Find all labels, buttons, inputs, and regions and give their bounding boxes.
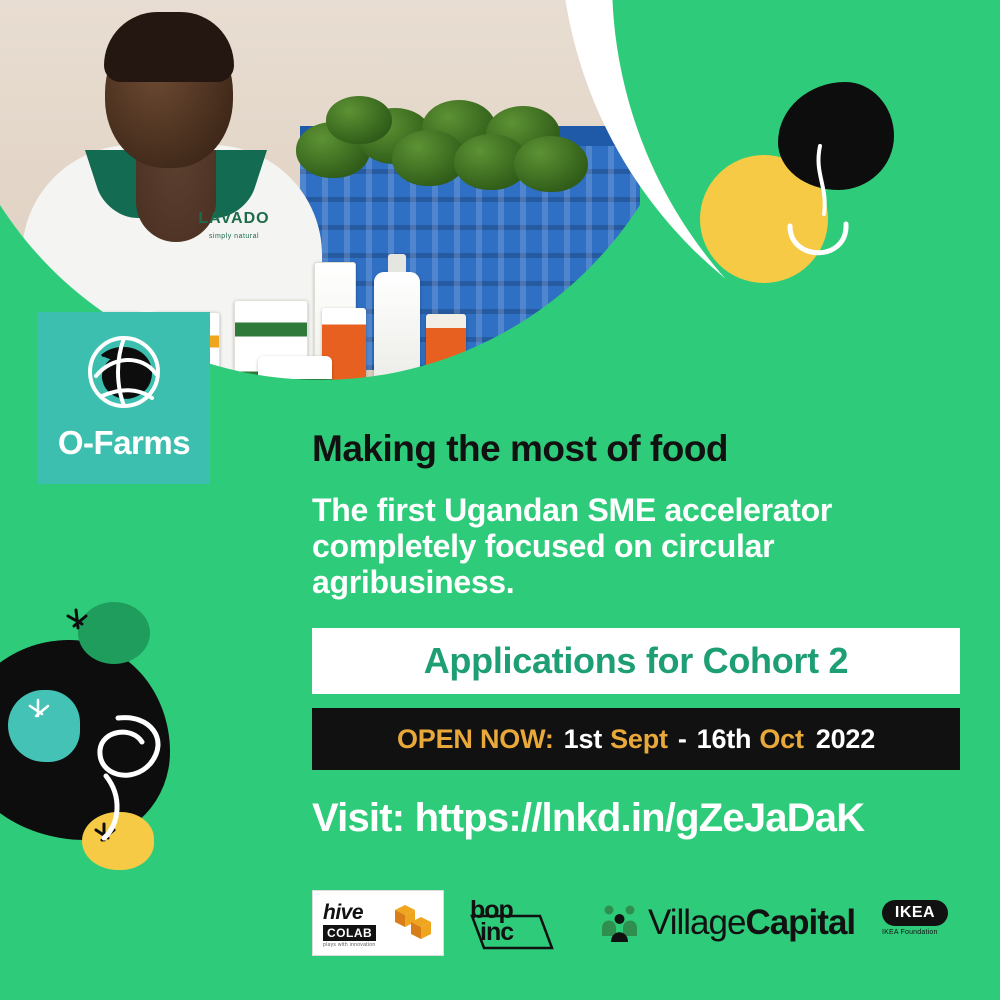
- date-separator: -: [678, 724, 687, 755]
- cohort-banner-text: Applications for Cohort 2: [424, 640, 849, 682]
- ikea-foundation-label: IKEA Foundation: [882, 929, 974, 936]
- visit-url[interactable]: https://lnkd.in/gZeJaDaK: [415, 796, 865, 840]
- hive-wordmark: hive: [323, 901, 363, 925]
- open-now-label: OPEN NOW:: [397, 724, 554, 755]
- white-squiggle-icon: [772, 140, 868, 280]
- o-farms-mark-icon: [72, 326, 176, 416]
- o-farms-logo-tile: O-Farms: [38, 312, 210, 484]
- capital-word: Capital: [745, 903, 855, 942]
- visit-line: Visit: https://lnkd.in/gZeJaDaK: [312, 796, 992, 841]
- end-day: 16th: [697, 724, 752, 755]
- decor-line-icons: [0, 580, 300, 900]
- hive-tagline: plays with innovation: [323, 942, 375, 948]
- colab-wordmark: COLAB: [323, 925, 376, 941]
- village-capital-logo: VillageCapital: [600, 900, 855, 946]
- headline-text: Making the most of food: [312, 428, 972, 470]
- end-month: Oct: [759, 724, 803, 755]
- partner-logos: hive COLAB plays with innovation bop inc: [300, 890, 980, 970]
- cubes-icon: [393, 903, 433, 943]
- bopinc-frame-icon: [468, 896, 568, 952]
- avocado-pile: [296, 96, 596, 186]
- year: 2022: [816, 724, 875, 755]
- people-icon: [600, 902, 640, 944]
- start-day: 1st: [564, 724, 602, 755]
- ikea-badge: IKEA: [882, 900, 948, 926]
- o-farms-wordmark: O-Farms: [38, 424, 210, 462]
- subheadline-text: The first Ugandan SME accelerator comple…: [312, 492, 962, 600]
- shirt-logo-text: LAVADO: [198, 210, 269, 227]
- bopinc-logo: bop inc: [468, 896, 568, 952]
- poster-canvas: LAVADO simply natural: [0, 0, 1000, 1000]
- dates-banner: OPEN NOW: 1st Sept - 16th Oct 2022: [312, 708, 960, 770]
- bottom-left-decor-group: [0, 580, 300, 900]
- start-month: Sept: [610, 724, 668, 755]
- village-word: Village: [648, 903, 745, 942]
- hive-colab-logo: hive COLAB plays with innovation: [312, 890, 444, 956]
- ikea-foundation-logo: IKEA IKEA Foundation: [882, 900, 974, 946]
- cohort-banner: Applications for Cohort 2: [312, 628, 960, 694]
- visit-label: Visit:: [312, 796, 404, 840]
- village-capital-wordmark: VillageCapital: [648, 903, 855, 943]
